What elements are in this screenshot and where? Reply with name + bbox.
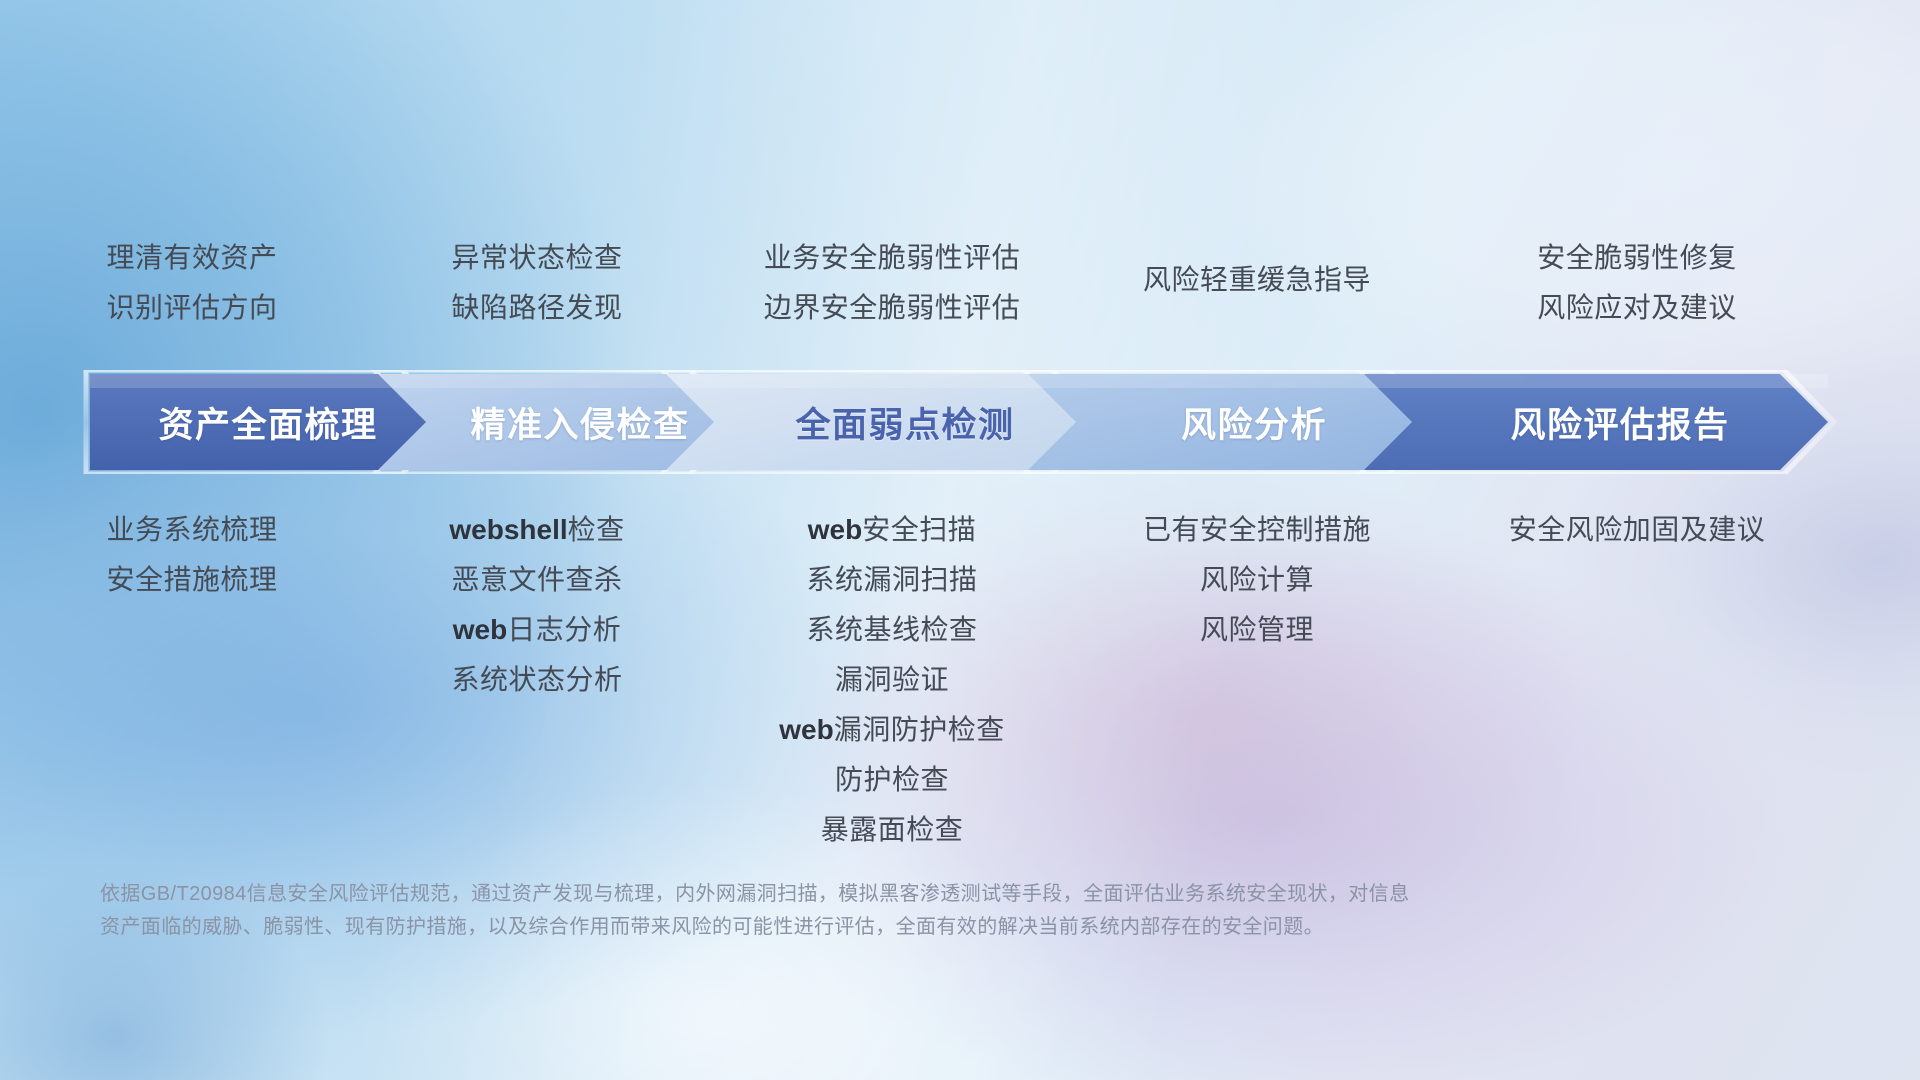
list-item: 暴露面检查	[821, 805, 964, 855]
chevron-label-risk-analysis[interactable]: 风险分析	[1076, 370, 1432, 474]
chevron-label-asset-inventory[interactable]: 资产全面梳理	[90, 370, 446, 474]
list-item-cjk: 漏洞验证	[835, 664, 949, 695]
list-item-cjk: 暴露面检查	[821, 814, 964, 845]
list-item: 恶意文件查杀	[451, 555, 622, 605]
list-item: 业务安全脆弱性评估	[764, 233, 1021, 283]
top-column-intrusion-check: 异常状态检查 缺陷路径发现	[382, 233, 692, 333]
list-item: web漏洞防护检查	[779, 705, 1004, 755]
bottom-column-risk-analysis: 已有安全控制措施 风险计算 风险管理	[1092, 505, 1422, 655]
list-item: 识别评估方向	[106, 283, 277, 333]
list-item: 风险应对及建议	[1537, 283, 1737, 333]
list-item: 风险计算	[1200, 555, 1314, 605]
list-item: 漏洞验证	[835, 655, 949, 705]
list-item-latin: webshell	[449, 514, 567, 545]
list-item: 已有安全控制措施	[1143, 505, 1371, 555]
chevron-label-weakness-detection[interactable]: 全面弱点检测	[714, 370, 1096, 474]
list-item-cjk: 恶意文件查杀	[451, 564, 622, 595]
top-column-risk-analysis: 风险轻重缓急指导	[1092, 233, 1422, 305]
list-item: 风险管理	[1200, 605, 1314, 655]
list-item: 业务系统梳理	[106, 505, 277, 555]
slide-canvas: 理清有效资产 识别评估方向 异常状态检查 缺陷路径发现 业务安全脆弱性评估 边界…	[0, 0, 1920, 1080]
list-item: 安全措施梳理	[106, 555, 277, 605]
bottom-column-intrusion-check: webshell检查 恶意文件查杀 web日志分析 系统状态分析	[382, 505, 692, 705]
list-item-cjk: 防护检查	[835, 764, 949, 795]
top-column-weakness-detection: 业务安全脆弱性评估 边界安全脆弱性评估	[692, 233, 1092, 333]
list-item: 系统漏洞扫描	[806, 555, 977, 605]
list-item: 安全脆弱性修复	[1537, 233, 1737, 283]
list-item: 缺陷路径发现	[451, 283, 622, 333]
list-item: web安全扫描	[808, 505, 976, 555]
footer-line-1: 依据GB/T20984信息安全风险评估规范，通过资产发现与梳理，内外网漏洞扫描，…	[100, 878, 1630, 911]
bottom-column-asset-inventory: 业务系统梳理 安全措施梳理	[2, 505, 382, 605]
bottom-column-weakness-detection: web安全扫描 系统漏洞扫描 系统基线检查 漏洞验证 web漏洞防护检查 防护检…	[692, 505, 1092, 855]
bottom-items-row: 业务系统梳理 安全措施梳理 webshell检查 恶意文件查杀 web日志分析 …	[0, 505, 1920, 855]
list-item: web日志分析	[453, 605, 621, 655]
list-item-cjk: 系统状态分析	[451, 664, 622, 695]
list-item: 理清有效资产	[106, 233, 277, 283]
list-item: 风险轻重缓急指导	[1143, 255, 1371, 305]
list-item: 系统状态分析	[451, 655, 622, 705]
list-item-latin: web	[808, 514, 862, 545]
top-column-risk-report: 安全脆弱性修复 风险应对及建议	[1422, 233, 1852, 333]
list-item: 异常状态检查	[451, 233, 622, 283]
footer-line-2: 资产面临的威胁、脆弱性、现有防护措施，以及综合作用而带来风险的可能性进行评估，全…	[100, 911, 1630, 944]
chevron-label-intrusion-check[interactable]: 精准入侵检查	[426, 370, 734, 474]
list-item: 边界安全脆弱性评估	[764, 283, 1021, 333]
list-item-latin: web	[453, 614, 507, 645]
list-item: webshell检查	[449, 505, 624, 555]
list-item-cjk: 安全扫描	[862, 514, 976, 545]
footer-description: 依据GB/T20984信息安全风险评估规范，通过资产发现与梳理，内外网漏洞扫描，…	[100, 878, 1630, 944]
list-item: 防护检查	[835, 755, 949, 805]
bottom-column-risk-report: 安全风险加固及建议	[1422, 505, 1852, 555]
top-items-row: 理清有效资产 识别评估方向 异常状态检查 缺陷路径发现 业务安全脆弱性评估 边界…	[0, 233, 1920, 333]
list-item-cjk: 系统基线检查	[806, 614, 977, 645]
chevron-label-risk-report[interactable]: 风险评估报告	[1412, 370, 1828, 474]
list-item-cjk: 漏洞防护检查	[834, 714, 1005, 745]
list-item-latin: web	[779, 714, 833, 745]
list-item-cjk: 检查	[568, 514, 625, 545]
list-item: 安全风险加固及建议	[1509, 505, 1766, 555]
top-column-asset-inventory: 理清有效资产 识别评估方向	[2, 233, 382, 333]
list-item-cjk: 日志分析	[507, 614, 621, 645]
list-item-cjk: 系统漏洞扫描	[806, 564, 977, 595]
list-item: 系统基线检查	[806, 605, 977, 655]
